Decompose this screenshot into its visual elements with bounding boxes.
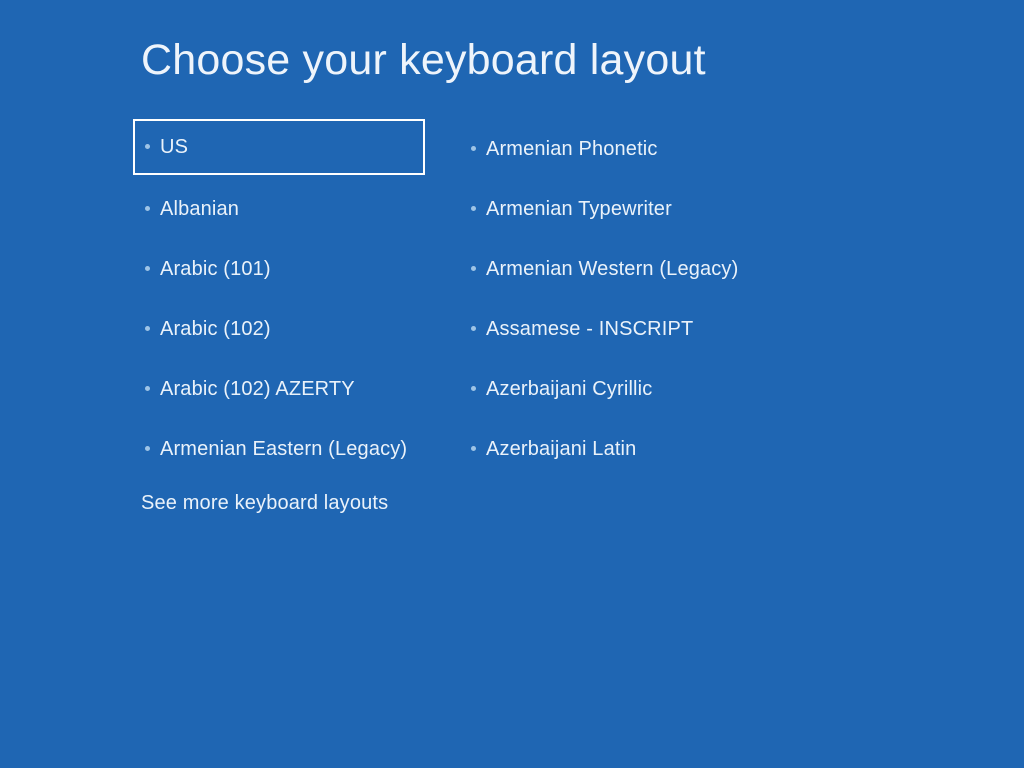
- keyboard-layout-option-label: Arabic (102) AZERTY: [160, 378, 355, 401]
- keyboard-layout-option-label: Assamese - INSCRIPT: [486, 318, 693, 341]
- keyboard-layout-option[interactable]: Albanian: [133, 179, 425, 239]
- keyboard-layout-option-label: Armenian Western (Legacy): [486, 258, 738, 281]
- bullet-dot-icon: [145, 326, 150, 331]
- keyboard-layout-option[interactable]: Azerbaijani Cyrillic: [459, 359, 789, 419]
- bullet-dot-icon: [471, 206, 476, 211]
- keyboard-layout-option-label: Azerbaijani Cyrillic: [486, 378, 652, 401]
- keyboard-layout-list-right: Armenian PhoneticArmenian TypewriterArme…: [459, 119, 789, 479]
- keyboard-layout-option-label: Azerbaijani Latin: [486, 438, 636, 461]
- page-title: Choose your keyboard layout: [141, 36, 706, 85]
- keyboard-layout-option[interactable]: Arabic (102): [133, 299, 425, 359]
- keyboard-layout-option[interactable]: US: [133, 119, 425, 175]
- bullet-dot-icon: [471, 266, 476, 271]
- bullet-dot-icon: [471, 146, 476, 151]
- bullet-dot-icon: [471, 386, 476, 391]
- keyboard-layout-screen: Choose your keyboard layout USAlbanianAr…: [0, 0, 1024, 768]
- keyboard-layout-option[interactable]: Armenian Typewriter: [459, 179, 789, 239]
- bullet-dot-icon: [145, 144, 150, 149]
- keyboard-layout-option[interactable]: Armenian Eastern (Legacy): [133, 419, 425, 479]
- keyboard-layout-option[interactable]: Arabic (102) AZERTY: [133, 359, 425, 419]
- bullet-dot-icon: [471, 446, 476, 451]
- keyboard-layout-option[interactable]: Armenian Phonetic: [459, 119, 789, 179]
- keyboard-layout-option[interactable]: Assamese - INSCRIPT: [459, 299, 789, 359]
- keyboard-layout-option-label: US: [160, 136, 188, 159]
- keyboard-layout-option-label: Arabic (102): [160, 318, 271, 341]
- keyboard-layout-option-label: Armenian Phonetic: [486, 138, 658, 161]
- keyboard-layout-option-label: Albanian: [160, 198, 239, 221]
- bullet-dot-icon: [471, 326, 476, 331]
- keyboard-layout-option[interactable]: Azerbaijani Latin: [459, 419, 789, 479]
- keyboard-layout-option-label: Armenian Eastern (Legacy): [160, 438, 407, 461]
- bullet-dot-icon: [145, 446, 150, 451]
- bullet-dot-icon: [145, 386, 150, 391]
- keyboard-layout-option-label: Armenian Typewriter: [486, 198, 672, 221]
- see-more-keyboard-layouts-link[interactable]: See more keyboard layouts: [141, 492, 388, 515]
- bullet-dot-icon: [145, 266, 150, 271]
- bullet-dot-icon: [145, 206, 150, 211]
- keyboard-layout-option-label: Arabic (101): [160, 258, 271, 281]
- keyboard-layout-option[interactable]: Armenian Western (Legacy): [459, 239, 789, 299]
- keyboard-layout-list-left: USAlbanianArabic (101)Arabic (102)Arabic…: [133, 119, 425, 479]
- keyboard-layout-option[interactable]: Arabic (101): [133, 239, 425, 299]
